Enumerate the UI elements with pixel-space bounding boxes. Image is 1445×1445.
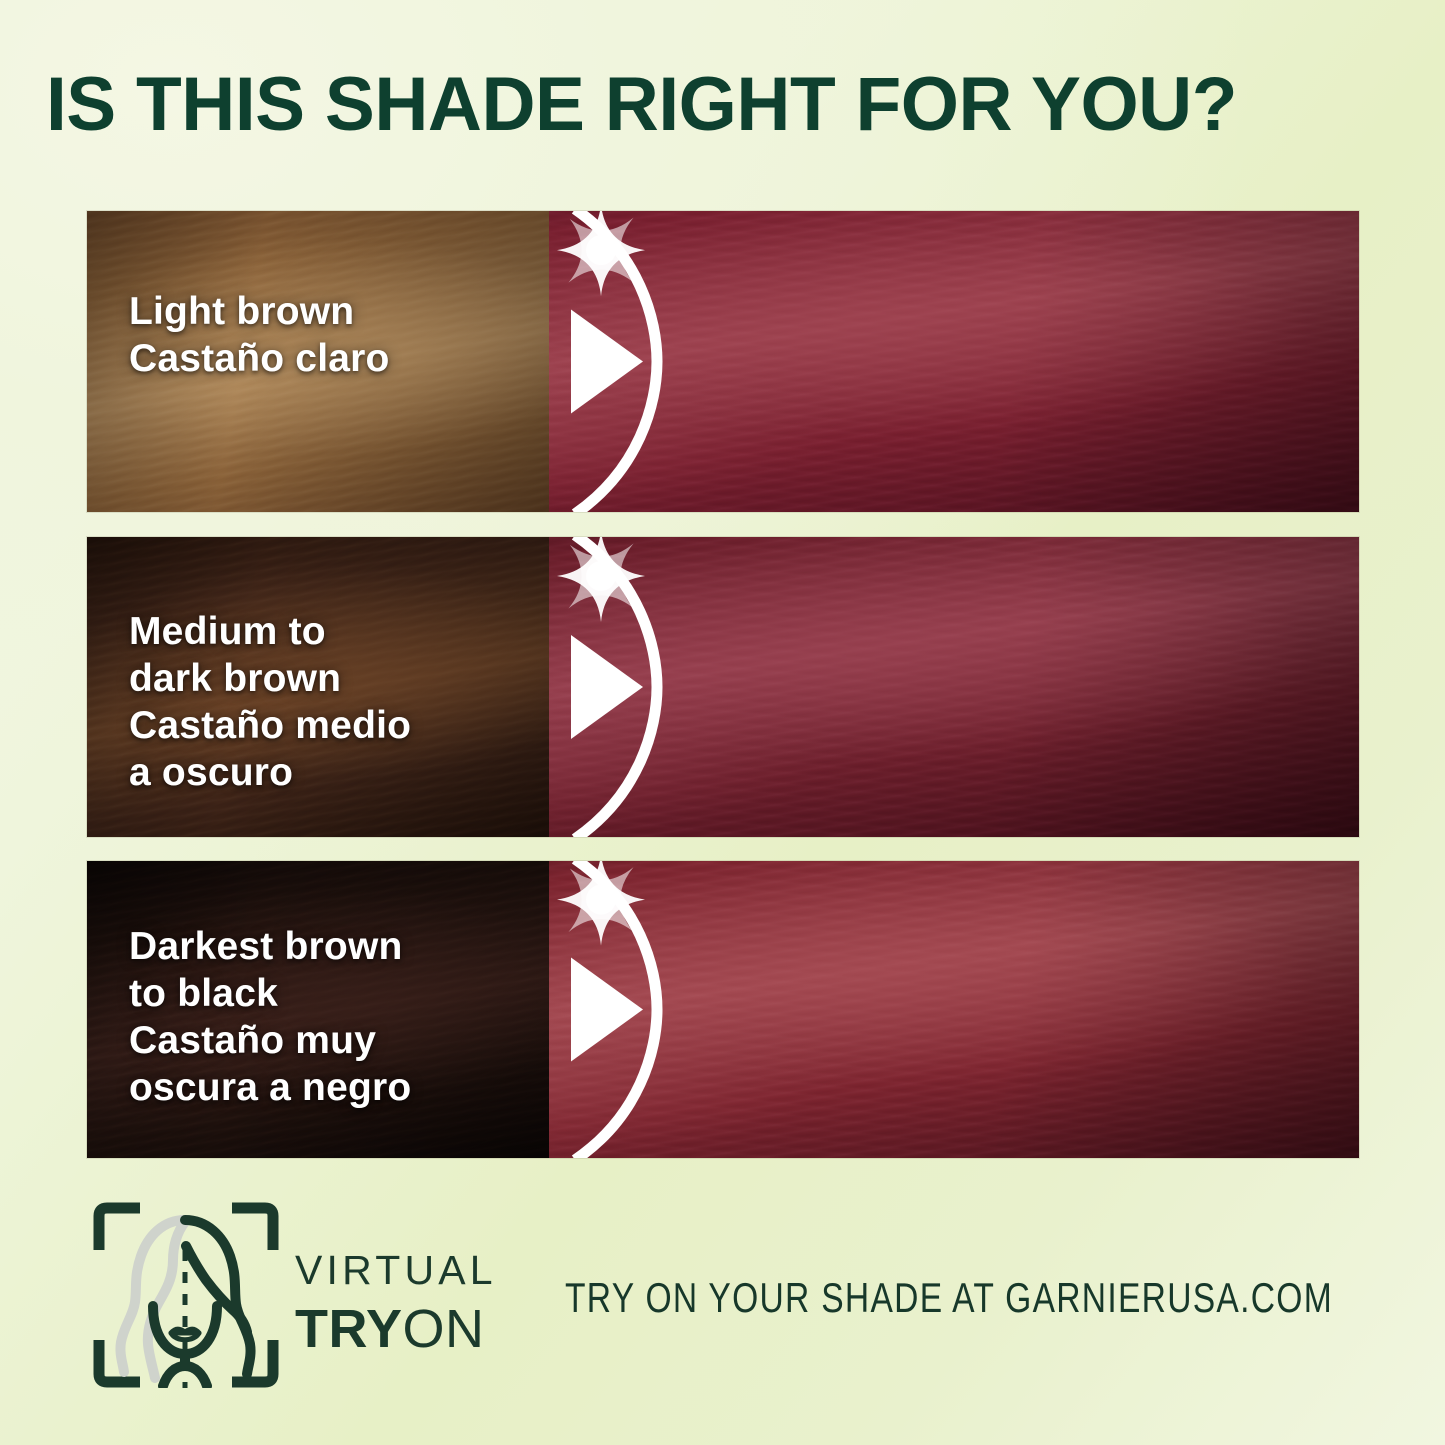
shade-row-label: Medium to dark brown Castaño medio a osc… [129, 608, 411, 796]
footer-tagline: TRY ON YOUR SHADE AT GARNIERUSA.COM [565, 1274, 1333, 1322]
right-arrow-icon [479, 861, 689, 1158]
logo-word-try: TRY [295, 1299, 403, 1359]
shade-row-label: Darkest brown to black Castaño muy oscur… [129, 923, 411, 1111]
arrow-head-icon [571, 635, 643, 739]
logo-word-on: ON [403, 1299, 485, 1359]
right-arrow-icon [479, 537, 689, 837]
arrow-head-icon [571, 958, 643, 1062]
arrow-head-icon [571, 310, 643, 414]
virtual-try-on-face-icon [93, 1202, 279, 1388]
shade-row: Light brown Castaño claro [87, 211, 1359, 512]
poster-root: IS THIS SHADE RIGHT FOR YOU? Light brown… [0, 0, 1445, 1445]
virtual-try-on-wordmark: VIRTUAL TRYON [295, 1250, 497, 1356]
shade-row-label: Light brown Castaño claro [129, 288, 390, 382]
footer: VIRTUAL TRYON TRY ON YOUR SHADE AT GARNI… [87, 1198, 1377, 1398]
logo-word-tryon: TRYON [295, 1302, 497, 1356]
logo-word-virtual: VIRTUAL [295, 1250, 497, 1291]
shade-row: Darkest brown to black Castaño muy oscur… [87, 861, 1359, 1158]
right-arrow-icon [479, 211, 689, 512]
page-title: IS THIS SHADE RIGHT FOR YOU? [46, 62, 1386, 148]
virtual-try-on-logo[interactable]: VIRTUAL TRYON [87, 1198, 527, 1393]
shade-row: Medium to dark brown Castaño medio a osc… [87, 537, 1359, 837]
